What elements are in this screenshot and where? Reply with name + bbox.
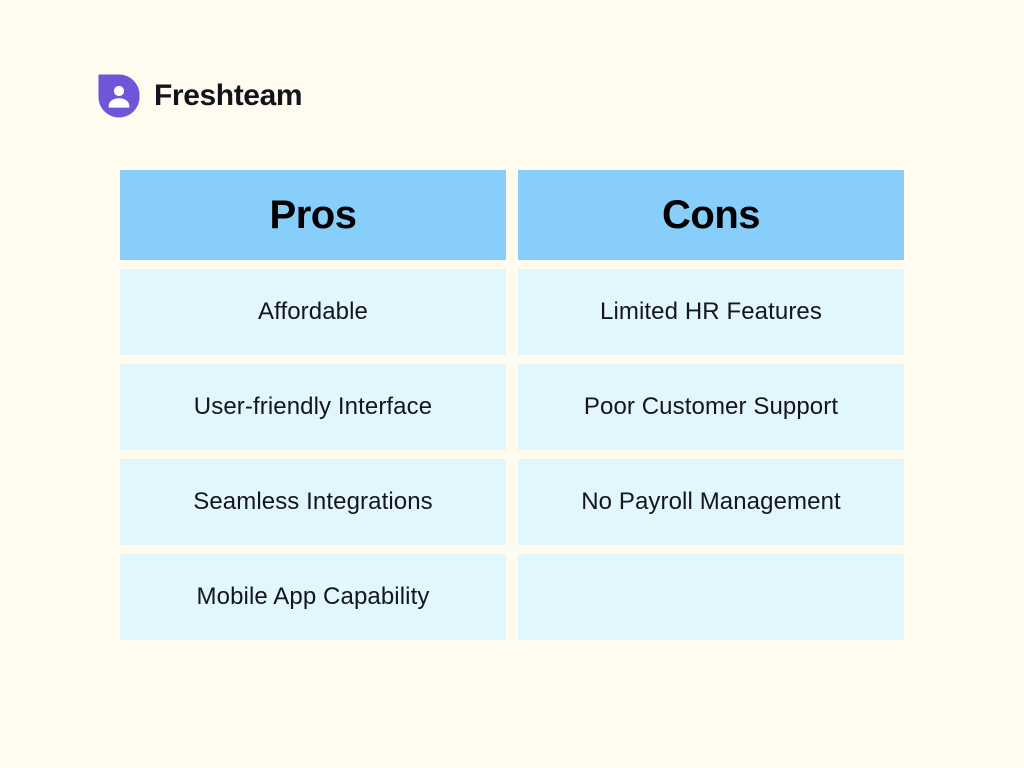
cons-cell-2-text: Poor Customer Support xyxy=(584,393,838,422)
pros-cons-table: Pros Affordable User-friendly Interface … xyxy=(120,170,904,640)
pros-cell-1: Affordable xyxy=(120,269,506,355)
column-header-cons-label: Cons xyxy=(662,195,760,235)
cons-cell-2: Poor Customer Support xyxy=(518,364,904,450)
column-cons: Cons Limited HR Features Poor Customer S… xyxy=(518,170,904,640)
column-header-cons: Cons xyxy=(518,170,904,260)
pros-cell-3: Seamless Integrations xyxy=(120,459,506,545)
column-pros: Pros Affordable User-friendly Interface … xyxy=(120,170,506,640)
brand-name: Freshteam xyxy=(154,81,302,111)
cons-cell-3-text: No Payroll Management xyxy=(581,488,841,517)
cons-cell-1-text: Limited HR Features xyxy=(600,298,822,327)
pros-cell-2-text: User-friendly Interface xyxy=(194,393,432,422)
column-header-pros: Pros xyxy=(120,170,506,260)
column-header-pros-label: Pros xyxy=(270,195,357,235)
pros-cell-1-text: Affordable xyxy=(258,298,368,327)
cons-cell-3: No Payroll Management xyxy=(518,459,904,545)
pros-cell-3-text: Seamless Integrations xyxy=(193,488,433,517)
cons-cell-1: Limited HR Features xyxy=(518,269,904,355)
pros-cell-4: Mobile App Capability xyxy=(120,554,506,640)
pros-cell-4-text: Mobile App Capability xyxy=(197,583,430,612)
brand-lockup: Freshteam xyxy=(98,74,302,118)
freshteam-person-logo-icon xyxy=(98,74,140,118)
pros-cell-2: User-friendly Interface xyxy=(120,364,506,450)
slide-canvas: Freshteam Pros Affordable User-friendly … xyxy=(0,0,1024,768)
cons-cell-4 xyxy=(518,554,904,640)
